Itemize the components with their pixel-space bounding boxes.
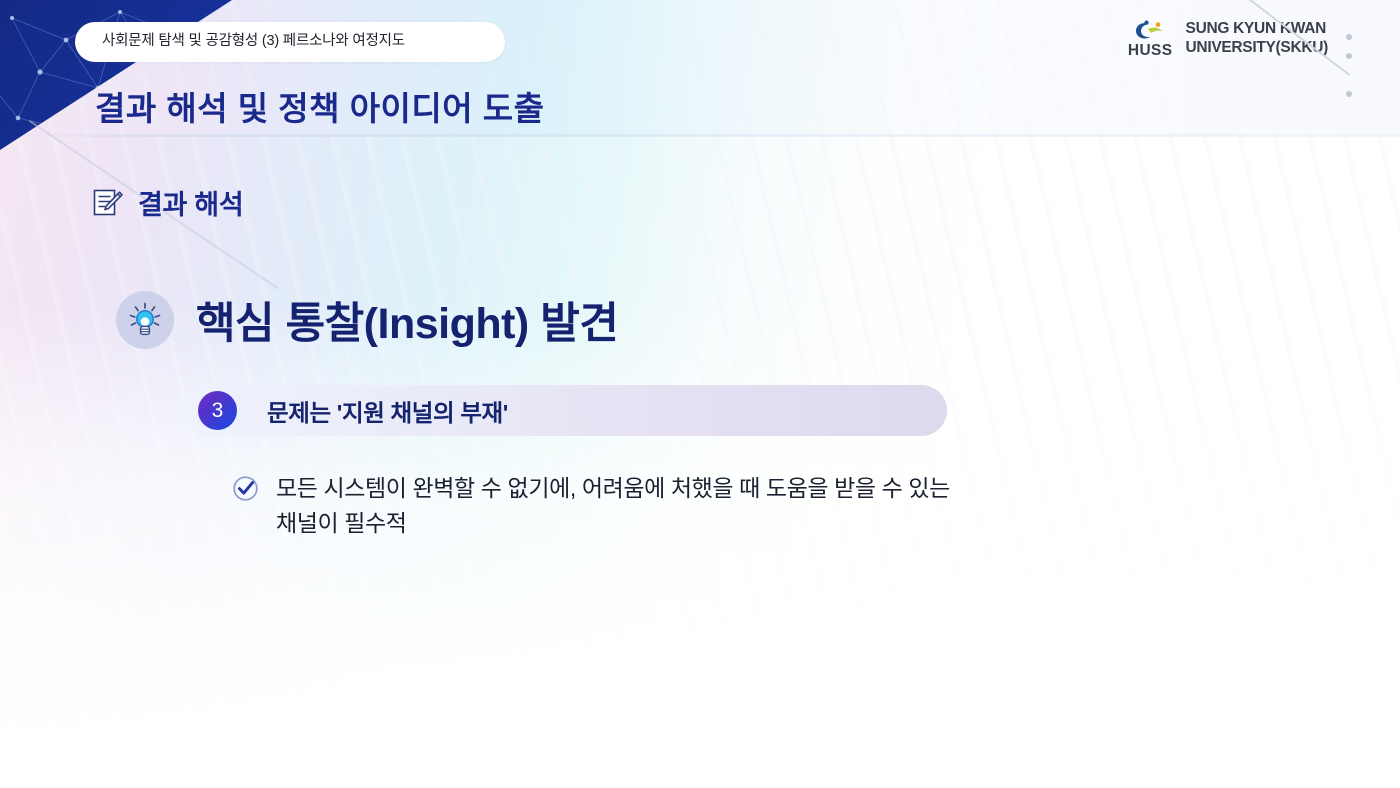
header-underline bbox=[0, 134, 1400, 137]
logo-wordmark: SUNG KYUN KWAN UNIVERSITY(SKKU) bbox=[1186, 20, 1328, 58]
section-heading-label: 결과 해석 bbox=[138, 183, 243, 222]
logo-mark: HUSS bbox=[1128, 20, 1173, 59]
logo-line-1: SUNG KYUN KWAN bbox=[1186, 20, 1328, 39]
logo-mark-text: HUSS bbox=[1128, 43, 1173, 59]
insight-title: 핵심 통찰(Insight) 발견 bbox=[196, 289, 618, 351]
skku-crescent-icon bbox=[1132, 20, 1168, 42]
breadcrumb: 사회문제 탐색 및 공감형성 (3) 페르소나와 여정지도 bbox=[75, 22, 505, 62]
item-number-badge: 3 bbox=[198, 391, 237, 430]
item-label: 문제는 '지원 채널의 부재' bbox=[267, 394, 508, 428]
insight-item-pill: 3 문제는 '지원 채널의 부재' bbox=[182, 385, 947, 436]
decorative-dot-3 bbox=[1346, 91, 1352, 97]
university-logo: HUSS SUNG KYUN KWAN UNIVERSITY(SKKU) bbox=[1128, 20, 1328, 59]
section-heading: 결과 해석 bbox=[92, 183, 243, 222]
decorative-dot-1 bbox=[1346, 34, 1352, 40]
check-circle-icon bbox=[232, 475, 259, 502]
background-fade bbox=[0, 300, 1400, 788]
list-item-text: 모든 시스템이 완벽할 수 없기에, 어려움에 처했을 때 도움을 받을 수 있… bbox=[276, 471, 956, 541]
lightbulb-icon bbox=[125, 300, 165, 340]
memo-pencil-icon bbox=[92, 187, 124, 219]
lightbulb-badge bbox=[116, 291, 174, 349]
insight-heading: 핵심 통찰(Insight) 발견 bbox=[116, 289, 618, 351]
page-title: 결과 해석 및 정책 아이디어 도출 bbox=[95, 82, 545, 130]
decorative-dot-2 bbox=[1346, 53, 1352, 59]
list-item: 모든 시스템이 완벽할 수 없기에, 어려움에 처했을 때 도움을 받을 수 있… bbox=[232, 471, 956, 541]
slide-root: 사회문제 탐색 및 공감형성 (3) 페르소나와 여정지도 결과 해석 및 정책… bbox=[0, 0, 1400, 788]
